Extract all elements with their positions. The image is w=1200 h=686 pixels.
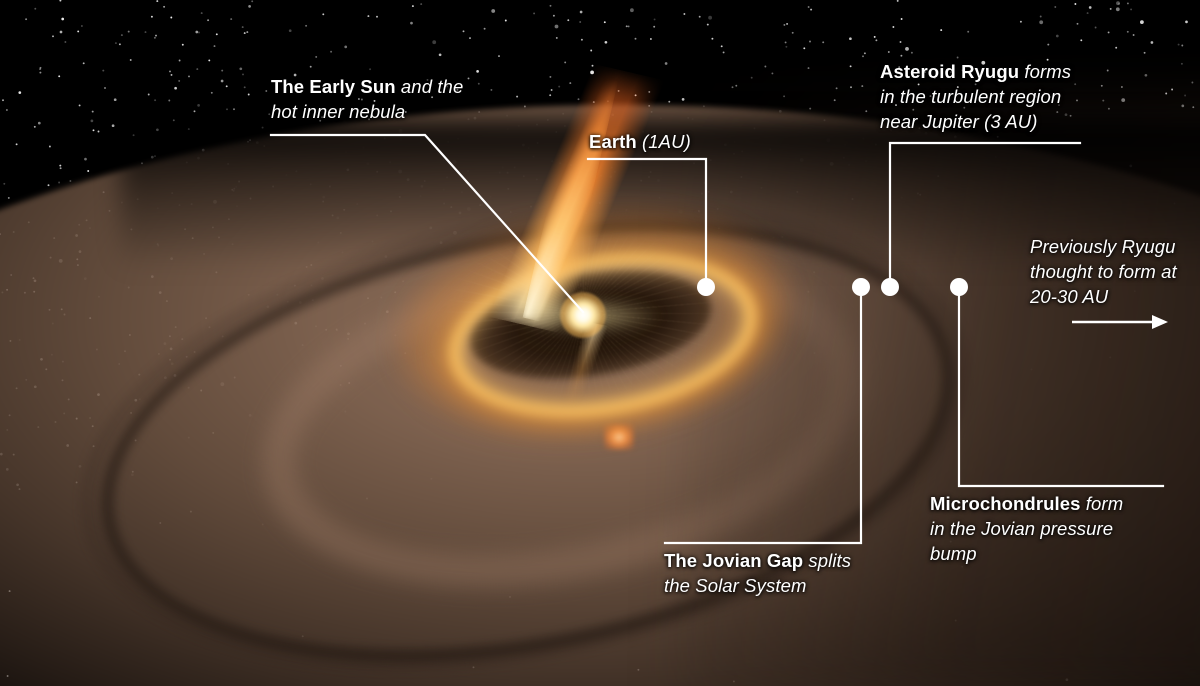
label-jovian-gap-line2: the Solar System <box>664 573 851 598</box>
protoplanetary-disk-illustration: The Early Sun and the hot inner nebula E… <box>0 0 1200 686</box>
label-microchondrules-line3: bump <box>930 541 1123 566</box>
label-ryugu-italic: forms <box>1019 61 1071 82</box>
label-previously-line2: thought to form at <box>1030 259 1177 284</box>
label-previously-line1: Previously Ryugu <box>1030 234 1177 259</box>
label-previously-line3: 20-30 AU <box>1030 284 1177 309</box>
label-early-sun-italic: and the <box>396 76 464 97</box>
label-previously-ryugu: Previously Ryugu thought to form at 20-3… <box>1030 234 1177 309</box>
label-early-sun: The Early Sun and the hot inner nebula <box>271 74 463 124</box>
label-asteroid-ryugu: Asteroid Ryugu forms in the turbulent re… <box>880 59 1071 134</box>
label-earth: Earth (1AU) <box>589 129 691 154</box>
label-early-sun-line2: hot inner nebula <box>271 99 463 124</box>
label-ryugu-line3: near Jupiter (3 AU) <box>880 109 1071 134</box>
label-ryugu-line2: in the turbulent region <box>880 84 1071 109</box>
label-microchondrules-bold: Microchondrules <box>930 493 1081 514</box>
label-ryugu-bold: Asteroid Ryugu <box>880 61 1019 82</box>
label-microchondrules: Microchondrules form in the Jovian press… <box>930 491 1123 566</box>
label-microchondrules-line2: in the Jovian pressure <box>930 516 1123 541</box>
label-jovian-gap-italic: splits <box>803 550 851 571</box>
label-early-sun-bold: The Early Sun <box>271 76 396 97</box>
label-jovian-gap-bold: The Jovian Gap <box>664 550 803 571</box>
label-jovian-gap: The Jovian Gap splits the Solar System <box>664 548 851 598</box>
label-earth-bold: Earth <box>589 131 637 152</box>
label-microchondrules-italic: form <box>1081 493 1124 514</box>
label-earth-italic: (1AU) <box>637 131 691 152</box>
